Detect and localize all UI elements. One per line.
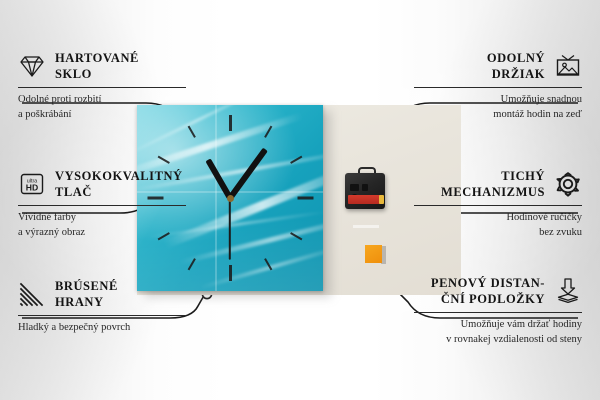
feature-header: HARTOVANÉSKLO <box>18 50 186 82</box>
gear-icon <box>554 170 582 198</box>
clock-hour-hand <box>205 158 232 199</box>
feature-title: TICHÝMECHANIZMUS <box>441 168 545 200</box>
feature-title: BRÚSENÉHRANY <box>55 278 118 310</box>
feature-description: Hladký a bezpečný povrch <box>18 321 186 336</box>
foam-distance-pad <box>365 245 386 265</box>
feature-title: HARTOVANÉSKLO <box>55 50 139 82</box>
feature-description: Umožňuje snadnou montáž hodin na zeď <box>414 93 582 123</box>
clock-second-hand <box>229 198 231 260</box>
feature-durable-holder: ODOLNÝDRŽIAK Umožňuje snadnou montáž hod… <box>414 50 582 123</box>
feature-foam-spacers: PENOVÝ DISTAN-ČNÍ PODLOŽKY Umožňuje vám … <box>414 275 582 348</box>
feature-divider <box>18 205 186 206</box>
clock-mechanism <box>345 167 385 209</box>
feature-description: Odolné proti rozbití a poškrábání <box>18 93 186 123</box>
diamond-icon <box>18 52 46 80</box>
feature-tempered-glass: HARTOVANÉSKLO Odolné proti rozbití a poš… <box>18 50 186 123</box>
feature-silent-mechanism: TICHÝMECHANIZMUS Hodinové ručičky bez zv… <box>414 168 582 241</box>
feature-title: ODOLNÝDRŽIAK <box>487 50 545 82</box>
ground-edges-icon <box>18 280 46 308</box>
feature-divider <box>414 312 582 313</box>
feature-divider <box>414 87 582 88</box>
feature-header: ODOLNÝDRŽIAK <box>414 50 582 82</box>
feature-high-quality-print: ultra HD VYSOKOKVALITNÝTLAČ Vividné farb… <box>18 168 186 241</box>
feature-divider <box>414 205 582 206</box>
picture-hanger-icon <box>554 52 582 80</box>
feature-divider <box>18 315 186 316</box>
feature-description: Vividné farby a výrazný obraz <box>18 211 186 241</box>
feature-description: Umožňuje vám držať hodiny v rovnakej vzd… <box>414 318 582 348</box>
ultra-hd-icon: ultra HD <box>18 170 46 198</box>
feature-description: Hodinové ručičky bez zvuku <box>414 211 582 241</box>
foam-pad-icon <box>554 277 582 305</box>
feature-title: PENOVÝ DISTAN-ČNÍ PODLOŽKY <box>431 275 545 307</box>
svg-text:HD: HD <box>26 183 38 193</box>
feature-header: BRÚSENÉHRANY <box>18 278 186 310</box>
clock-minute-hand <box>228 148 268 200</box>
battery-terminal <box>379 195 384 204</box>
feature-header: ultra HD VYSOKOKVALITNÝTLAČ <box>18 168 186 200</box>
feature-header: TICHÝMECHANIZMUS <box>414 168 582 200</box>
feature-header: PENOVÝ DISTAN-ČNÍ PODLOŽKY <box>414 275 582 307</box>
battery <box>348 195 382 204</box>
feature-title: VYSOKOKVALITNÝTLAČ <box>55 168 183 200</box>
product-infographic: HARTOVANÉSKLO Odolné proti rozbití a poš… <box>0 0 600 400</box>
clock-center-cap <box>227 195 234 202</box>
feature-divider <box>18 87 186 88</box>
feature-ground-edges: BRÚSENÉHRANY Hladký a bezpečný povrch <box>18 278 186 336</box>
